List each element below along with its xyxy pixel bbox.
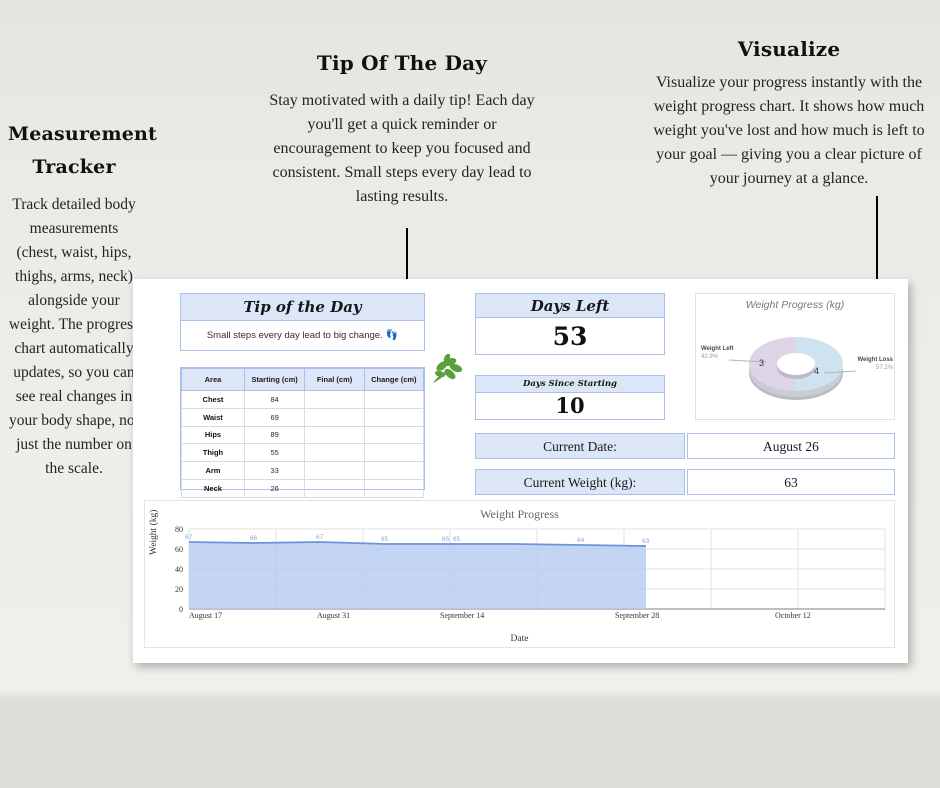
current-weight-row: Current Weight (kg): 63: [475, 469, 895, 495]
donut-chart: Weight Left 42.9% 3 Weight Loss 57.1% 4: [696, 310, 896, 418]
table-header-row: Area Starting (cm) Final (cm) Change (cm…: [182, 369, 424, 391]
cell-starting[interactable]: 33: [244, 462, 305, 480]
cell-final[interactable]: [305, 479, 364, 497]
cell-final[interactable]: [305, 408, 364, 426]
x-tick-5: October 12: [775, 611, 811, 620]
days-since-starting-value: 10: [476, 393, 664, 419]
current-weight-value[interactable]: 63: [687, 469, 895, 495]
cell-starting[interactable]: 69: [244, 408, 305, 426]
table-row[interactable]: Thigh 55: [182, 444, 424, 462]
days-left-card: Days Left 53: [475, 293, 665, 355]
callout-visualize: Visualize Visualize your progress instan…: [645, 36, 933, 191]
line-chart-svg: [145, 521, 896, 641]
cell-starting[interactable]: 55: [244, 444, 305, 462]
donut-value-weight-loss: 4: [814, 366, 819, 376]
point-label-8: 63: [642, 538, 649, 545]
cell-starting[interactable]: 26: [244, 479, 305, 497]
leaf-branch-icon: [430, 352, 464, 386]
cell-starting[interactable]: 89: [244, 426, 305, 444]
y-tick-20: 20: [163, 585, 183, 594]
footprints-icon: 👣: [386, 330, 398, 341]
table-row[interactable]: Neck 26: [182, 479, 424, 497]
y-tick-80: 80: [163, 525, 183, 534]
days-since-starting-card: Days Since Starting 10: [475, 375, 665, 420]
cell-final[interactable]: [305, 426, 364, 444]
col-starting: Starting (cm): [244, 369, 305, 391]
callout-measurement-tracker: Measurement Tracker Track detailed body …: [8, 118, 140, 481]
callout-measurement-body: Track detailed body measurements (chest,…: [8, 193, 140, 481]
current-date-row: Current Date: August 26: [475, 433, 895, 459]
days-left-label: Days Left: [476, 294, 664, 318]
table-row[interactable]: Hips 89: [182, 426, 424, 444]
x-tick-1: August 17: [189, 611, 222, 620]
point-label-4: 65: [381, 536, 388, 543]
donut-label-weight-left: Weight Left 42.9%: [701, 346, 734, 361]
x-tick-2: August 31: [317, 611, 350, 620]
dashboard-canvas: Tip of the Day Small steps every day lea…: [138, 284, 903, 658]
table-row[interactable]: Waist 69: [182, 408, 424, 426]
donut-label-weight-loss-pct: 57.1%: [876, 365, 893, 371]
cell-area: Hips: [182, 426, 245, 444]
y-tick-40: 40: [163, 565, 183, 574]
current-date-value[interactable]: August 26: [687, 433, 895, 459]
donut-label-weight-loss-name: Weight Loss: [857, 357, 893, 363]
measurement-table: Area Starting (cm) Final (cm) Change (cm…: [181, 368, 424, 498]
donut-label-weight-left-pct: 42.9%: [701, 354, 718, 360]
x-tick-4: September 28: [615, 611, 659, 620]
callout-measurement-title: Measurement Tracker: [8, 118, 140, 184]
cell-change: [364, 426, 423, 444]
weight-progress-chart-card: Weight Progress Weight (kg) Date 0 20 40…: [144, 500, 895, 648]
dashboard-slide: Tip of the Day Small steps every day lea…: [133, 279, 908, 663]
col-change: Change (cm): [364, 369, 423, 391]
y-tick-60: 60: [163, 545, 183, 554]
line-chart-plot-area: 0 20 40 60 80: [145, 521, 896, 641]
cell-final[interactable]: [305, 444, 364, 462]
cell-change: [364, 391, 423, 409]
days-left-value: 53: [476, 318, 664, 355]
table-row[interactable]: Arm 33: [182, 462, 424, 480]
tip-of-the-day-card: Tip of the Day Small steps every day lea…: [180, 293, 425, 351]
cell-final[interactable]: [305, 391, 364, 409]
donut-value-weight-left: 3: [759, 358, 764, 368]
x-tick-3: September 14: [440, 611, 484, 620]
callout-tip-title: Tip Of The Day: [262, 50, 542, 77]
cell-change: [364, 479, 423, 497]
cell-change: [364, 444, 423, 462]
point-label-2: 66: [250, 535, 257, 542]
days-since-starting-label: Days Since Starting: [476, 376, 664, 393]
donut-label-weight-loss: Weight Loss 57.1%: [857, 357, 893, 372]
callout-visualize-title: Visualize: [645, 36, 933, 63]
cell-area: Chest: [182, 391, 245, 409]
col-final: Final (cm): [305, 369, 364, 391]
point-label-1: 67: [185, 534, 192, 541]
current-date-label: Current Date:: [475, 433, 685, 459]
cell-area: Thigh: [182, 444, 245, 462]
point-label-6: 65: [453, 536, 460, 543]
cell-area: Arm: [182, 462, 245, 480]
point-label-5: 65: [442, 536, 449, 543]
table-row[interactable]: Chest 84: [182, 391, 424, 409]
tip-card-header: Tip of the Day: [181, 294, 424, 321]
cell-change: [364, 462, 423, 480]
cell-final[interactable]: [305, 462, 364, 480]
callout-tip-body: Stay motivated with a daily tip! Each da…: [262, 89, 542, 209]
donut-label-weight-left-name: Weight Left: [701, 346, 734, 352]
point-label-7: 64: [577, 537, 584, 544]
cell-change: [364, 408, 423, 426]
y-tick-0: 0: [163, 605, 183, 614]
cell-area: Waist: [182, 408, 245, 426]
cell-starting[interactable]: 84: [244, 391, 305, 409]
callout-visualize-body: Visualize your progress instantly with t…: [645, 71, 933, 191]
line-chart-title: Weight Progress: [145, 507, 894, 522]
point-label-3: 67: [316, 534, 323, 541]
weight-progress-donut-card: Weight Progress (kg): [695, 293, 895, 420]
tip-card-text: Small steps every day lead to big change…: [181, 321, 424, 350]
current-weight-label: Current Weight (kg):: [475, 469, 685, 495]
cell-area: Neck: [182, 479, 245, 497]
col-area: Area: [182, 369, 245, 391]
measurement-table-card: Area Starting (cm) Final (cm) Change (cm…: [180, 367, 425, 490]
callout-tip-of-the-day: Tip Of The Day Stay motivated with a dai…: [262, 50, 542, 209]
line-chart-area-fill: [189, 542, 646, 609]
tip-text-value: Small steps every day lead to big change…: [207, 330, 383, 341]
